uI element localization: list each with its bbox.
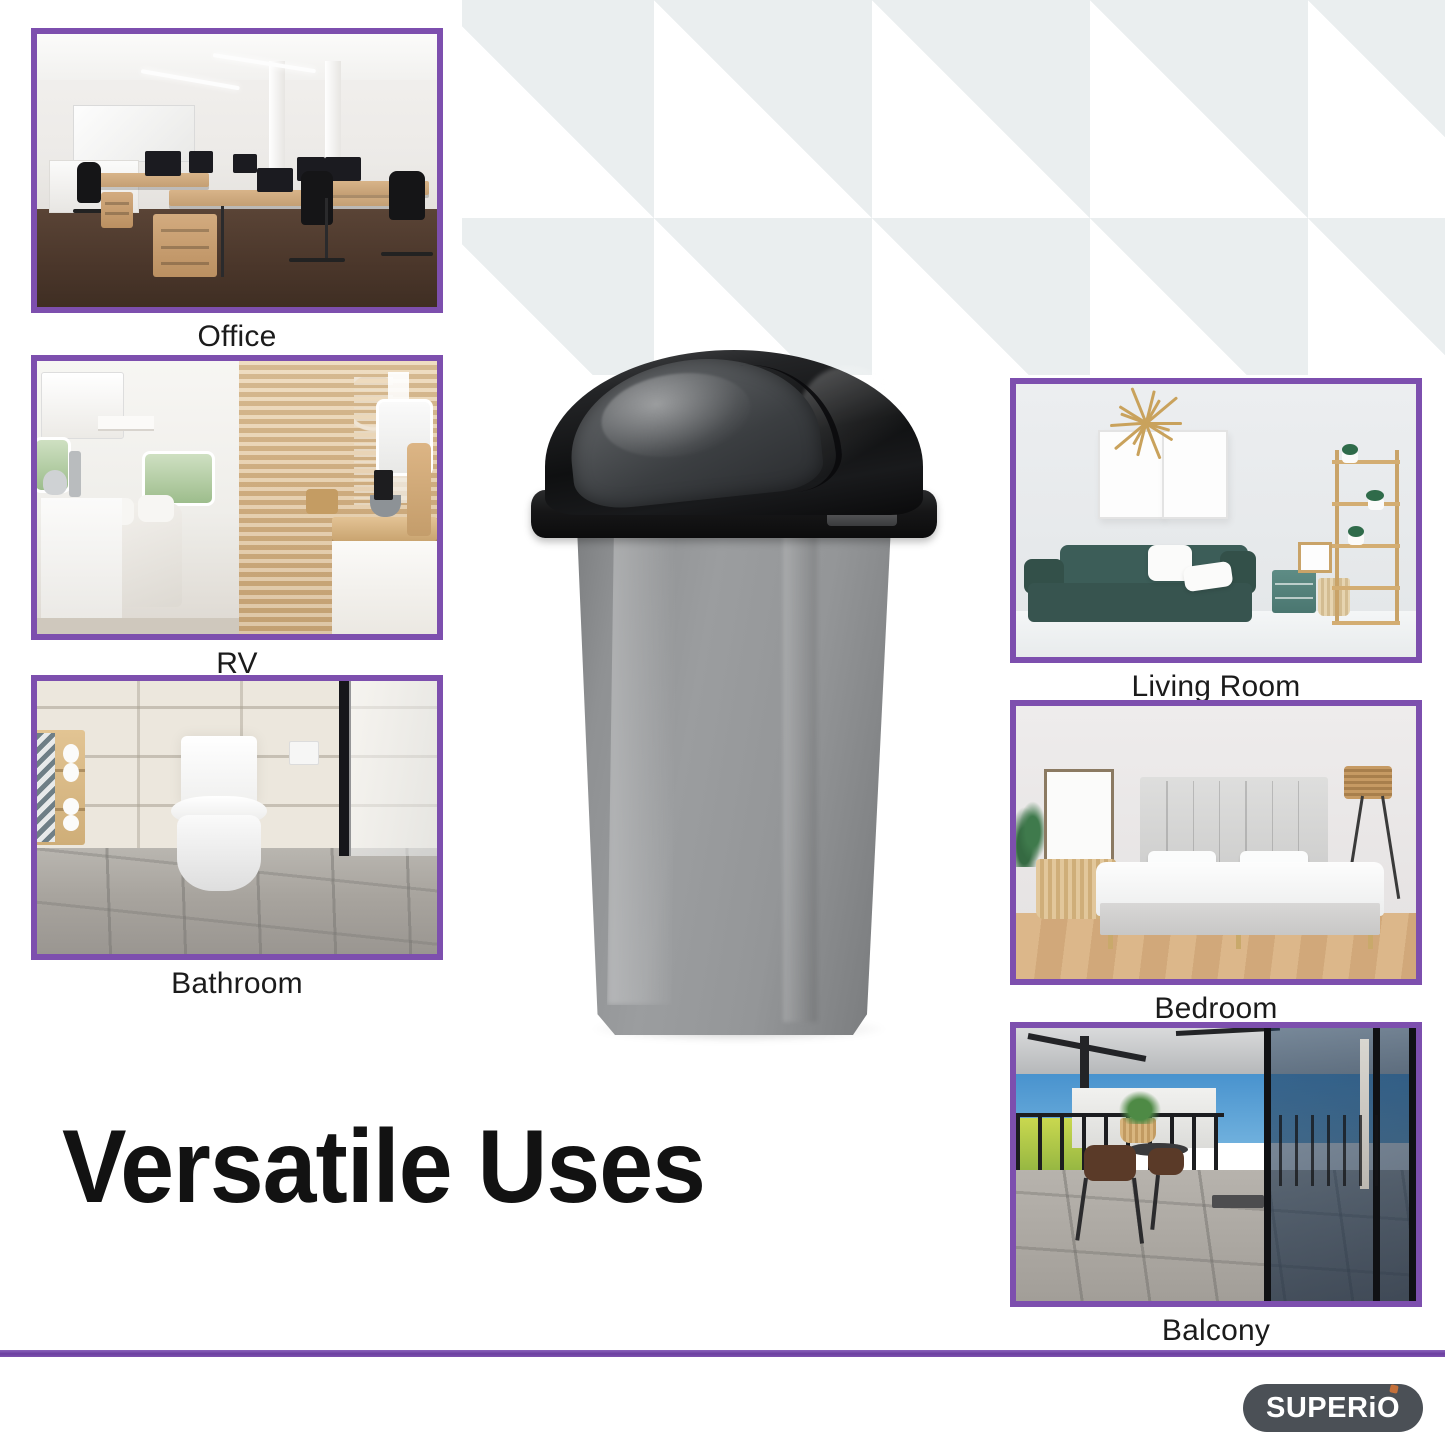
chandelier bbox=[1092, 389, 1200, 455]
scene-frame-living-room bbox=[1010, 378, 1422, 663]
scene-card-office: Office bbox=[31, 28, 443, 348]
scene-frame-office bbox=[31, 28, 443, 313]
scene-image-bedroom bbox=[1016, 706, 1416, 979]
scene-image-office bbox=[37, 34, 437, 307]
brand-logo-text: SUPERiO bbox=[1266, 1392, 1400, 1425]
brand-logo: SUPERiO bbox=[1243, 1384, 1423, 1432]
scene-image-living-room bbox=[1016, 384, 1416, 657]
scene-caption-bathroom: Bathroom bbox=[31, 967, 443, 1001]
scene-caption-bedroom: Bedroom bbox=[1010, 992, 1422, 1026]
scene-caption-living-room: Living Room bbox=[1010, 670, 1422, 704]
scene-image-rv bbox=[37, 361, 437, 634]
scene-card-bedroom: Bedroom bbox=[1010, 700, 1422, 1020]
page-title: Versatile Uses bbox=[62, 1108, 705, 1227]
infographic-page: Office bbox=[0, 0, 1445, 1445]
trash-can-body-highlight bbox=[607, 525, 677, 1005]
scene-caption-office: Office bbox=[31, 320, 443, 354]
scene-card-balcony: Balcony bbox=[1010, 1022, 1422, 1342]
brand-logo-dot-icon bbox=[1389, 1384, 1398, 1393]
scene-card-bathroom: Bathroom bbox=[31, 675, 443, 995]
scene-frame-balcony bbox=[1010, 1022, 1422, 1307]
scene-image-bathroom bbox=[37, 681, 437, 954]
product-image-trash-can bbox=[497, 340, 972, 1040]
trash-can-body-edge bbox=[783, 522, 817, 1022]
scene-card-living-room: Living Room bbox=[1010, 378, 1422, 698]
scene-card-rv: RV bbox=[31, 355, 443, 675]
scene-frame-bathroom bbox=[31, 675, 443, 960]
bottom-divider bbox=[0, 1350, 1445, 1357]
scene-frame-rv bbox=[31, 355, 443, 640]
scene-image-balcony bbox=[1016, 1028, 1416, 1301]
ladder-shelf bbox=[1332, 450, 1400, 625]
scene-frame-bedroom bbox=[1010, 700, 1422, 985]
scene-caption-balcony: Balcony bbox=[1010, 1314, 1422, 1348]
